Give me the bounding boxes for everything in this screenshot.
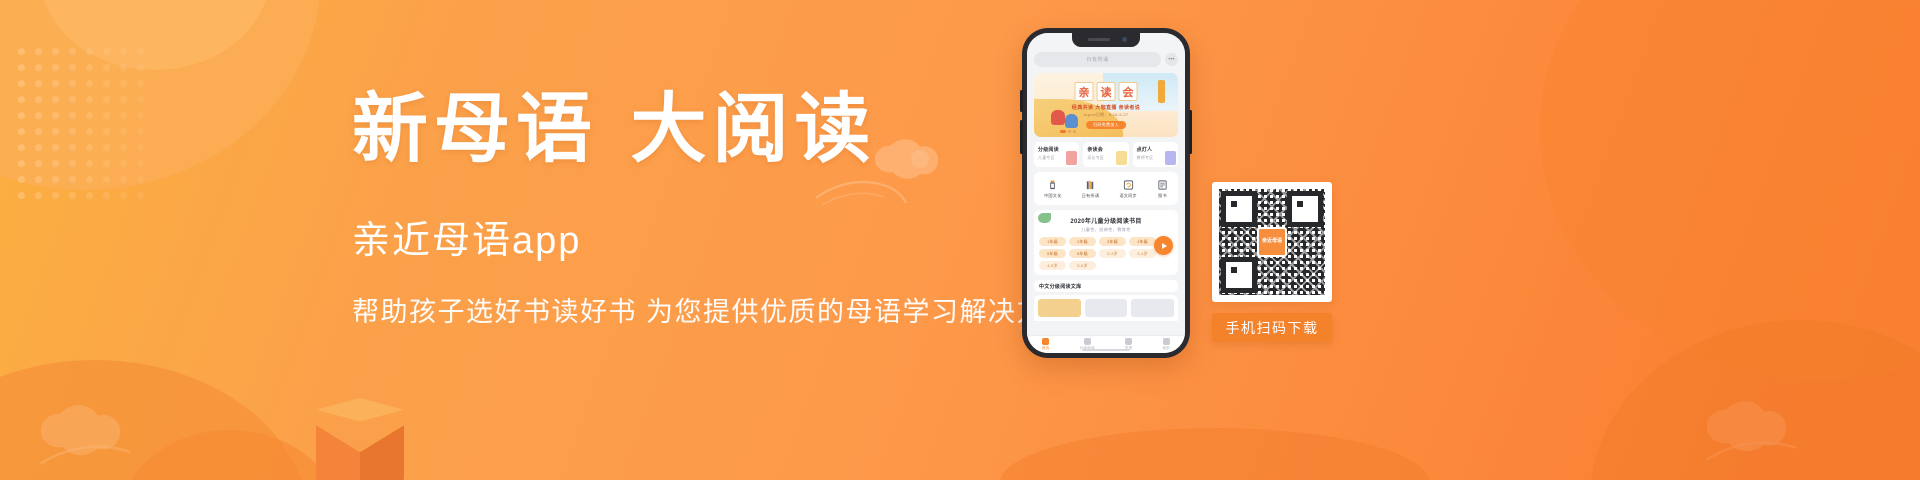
- phone-mockup: 日有所诵 ••• 亲 读 会 经典共读 大咖直播 亲读者说 report: [1022, 28, 1190, 358]
- home-indicator: [1082, 349, 1130, 351]
- grade-chip[interactable]: 3年级: [1099, 237, 1126, 246]
- more-icon[interactable]: •••: [1165, 53, 1178, 66]
- book-icon: [1157, 179, 1168, 191]
- quick-nav-label: 日有所诵: [1082, 193, 1100, 199]
- quick-nav-daily-recite[interactable]: 日有所诵: [1082, 179, 1100, 199]
- dot-grid-decoration: [18, 48, 146, 200]
- qr-download-block: 亲近母语 手机扫码下载: [1212, 182, 1332, 342]
- booklist-title: 2020年儿童分级阅读书目: [1039, 216, 1173, 225]
- leaf-decoration-icon: [1038, 213, 1051, 223]
- grade-chip[interactable]: 6年级: [1069, 249, 1096, 258]
- grade-chip[interactable]: 1年级: [1039, 237, 1066, 246]
- hero-ribbon: [1158, 80, 1165, 103]
- banner-copy: 新母语 大阅读 亲近母语app 帮助孩子选好书读好书 为您提供优质的母语学习解决…: [352, 86, 1112, 329]
- category-card-parent-club[interactable]: 亲读会 家长专区: [1083, 142, 1128, 167]
- blob-right: [1540, 0, 1920, 380]
- phone-ground-shadow: [1000, 428, 1430, 480]
- home-icon: [1042, 338, 1049, 345]
- shelf-book[interactable]: [1038, 299, 1081, 317]
- qr-finder-icon: [1221, 257, 1257, 293]
- cube-decoration: [300, 398, 420, 480]
- carousel-dots[interactable]: [1060, 130, 1076, 133]
- library-bar[interactable]: 中文分级阅读文库: [1034, 280, 1178, 292]
- qr-center-logo: 亲近母语: [1257, 227, 1287, 257]
- tab-label: 我的: [1162, 346, 1170, 351]
- shelf-book[interactable]: [1085, 299, 1128, 317]
- hero-banner-card[interactable]: 亲 读 会 经典共读 大咖直播 亲读者说 report日期：9.16-9.27 …: [1034, 73, 1178, 137]
- tab-label: 首页: [1042, 346, 1050, 351]
- age-chip[interactable]: 0-3岁: [1099, 249, 1126, 258]
- phone-volume-button: [1020, 120, 1023, 154]
- books-icon: [1085, 179, 1096, 191]
- grade-chip-group: 1年级 2年级 3年级 4年级 5年级 6年级 0-3岁 3-4岁 4-5岁 5…: [1039, 237, 1173, 270]
- qr-finder-icon: [1287, 191, 1323, 227]
- tab-mine[interactable]: 我的: [1162, 338, 1170, 351]
- banner-app-name: 亲近母语app: [352, 209, 1112, 264]
- quick-nav-chinese-culture[interactable]: 中国文化: [1044, 179, 1062, 199]
- hero-title-char: 亲: [1075, 82, 1094, 101]
- cloud-swirl-icon: [40, 396, 190, 474]
- shelf-book[interactable]: [1131, 299, 1174, 317]
- scroll-icon: [1047, 179, 1058, 191]
- search-input[interactable]: 日有所诵: [1034, 52, 1161, 67]
- promo-banner: 新母语 大阅读 亲近母语app 帮助孩子选好书读好书 为您提供优质的母语学习解决…: [0, 0, 1920, 480]
- phone-power-button: [1189, 110, 1192, 154]
- hero-title: 亲 读 会: [1075, 82, 1138, 101]
- sync-icon: [1123, 179, 1134, 191]
- compass-icon: [1125, 338, 1132, 345]
- hero-meta: report日期：9.16-9.27: [1084, 112, 1129, 118]
- quick-nav-label: 中国文化: [1044, 193, 1062, 199]
- quick-nav-textbook-sync[interactable]: 语文同步: [1119, 179, 1137, 199]
- quick-nav-label: 语文同步: [1119, 193, 1137, 199]
- age-chip[interactable]: 4-5岁: [1039, 261, 1066, 270]
- cloud-swirl-icon: [1706, 392, 1856, 470]
- hero-cta-button[interactable]: 扫码免费加入: [1086, 121, 1126, 129]
- phone-screen: 日有所诵 ••• 亲 读 会 经典共读 大咖直播 亲读者说 report: [1027, 33, 1185, 353]
- banner-headline: 新母语 大阅读: [352, 86, 1112, 171]
- app-screen-content: 日有所诵 ••• 亲 读 会 经典共读 大咖直播 亲读者说 report: [1027, 33, 1185, 353]
- download-button[interactable]: 手机扫码下载: [1212, 313, 1332, 342]
- grade-chip[interactable]: 5年级: [1039, 249, 1066, 258]
- phone-mute-switch: [1020, 90, 1023, 112]
- hero-illustration-child-2: [1065, 114, 1078, 128]
- hero-subtitle: 经典共读 大咖直播 亲读者说: [1072, 104, 1140, 111]
- bookmark-icon: [1066, 151, 1077, 165]
- booklist-subtitle: 儿童性，经典性，教育性: [1039, 227, 1173, 233]
- note-icon: [1116, 151, 1127, 165]
- qr-code-image: 亲近母语: [1219, 189, 1325, 295]
- banner-tagline: 帮助孩子选好书读好书 为您提供优质的母语学习解决方案: [352, 290, 1112, 329]
- grade-chip[interactable]: 4年级: [1129, 237, 1156, 246]
- qr-finder-icon: [1221, 191, 1257, 227]
- hero-illustration-child-1: [1051, 110, 1065, 125]
- grade-chip[interactable]: 2年级: [1069, 237, 1096, 246]
- phone-notch: [1072, 33, 1140, 47]
- qr-code-card[interactable]: 亲近母语: [1212, 182, 1332, 302]
- book-shelf-row: [1034, 295, 1178, 321]
- hero-title-char: 读: [1097, 82, 1116, 101]
- list-icon: [1084, 338, 1091, 345]
- quick-nav-books[interactable]: 图书: [1157, 179, 1168, 199]
- booklist-card: 2020年儿童分级阅读书目 儿童性，经典性，教育性 1年级 2年级 3年级 4年…: [1034, 210, 1178, 275]
- quick-nav-row: 中国文化 日有所诵: [1034, 172, 1178, 205]
- hero-title-char: 会: [1119, 82, 1138, 101]
- user-icon: [1163, 338, 1170, 345]
- app-search-bar[interactable]: 日有所诵 •••: [1034, 52, 1178, 67]
- category-card-teacher[interactable]: 点灯人 教师专区: [1133, 142, 1178, 167]
- age-chip[interactable]: 3-4岁: [1129, 249, 1156, 258]
- tab-home[interactable]: 首页: [1042, 338, 1050, 351]
- category-card-row: 分级阅读 儿童专区 亲读会 家长专区 点灯人 教师专区: [1034, 142, 1178, 167]
- video-play-icon[interactable]: [1154, 236, 1173, 255]
- age-chip[interactable]: 5-6岁: [1069, 261, 1096, 270]
- person-icon: [1165, 151, 1176, 165]
- quick-nav-label: 图书: [1158, 193, 1167, 199]
- category-card-graded-reading[interactable]: 分级阅读 儿童专区: [1034, 142, 1079, 167]
